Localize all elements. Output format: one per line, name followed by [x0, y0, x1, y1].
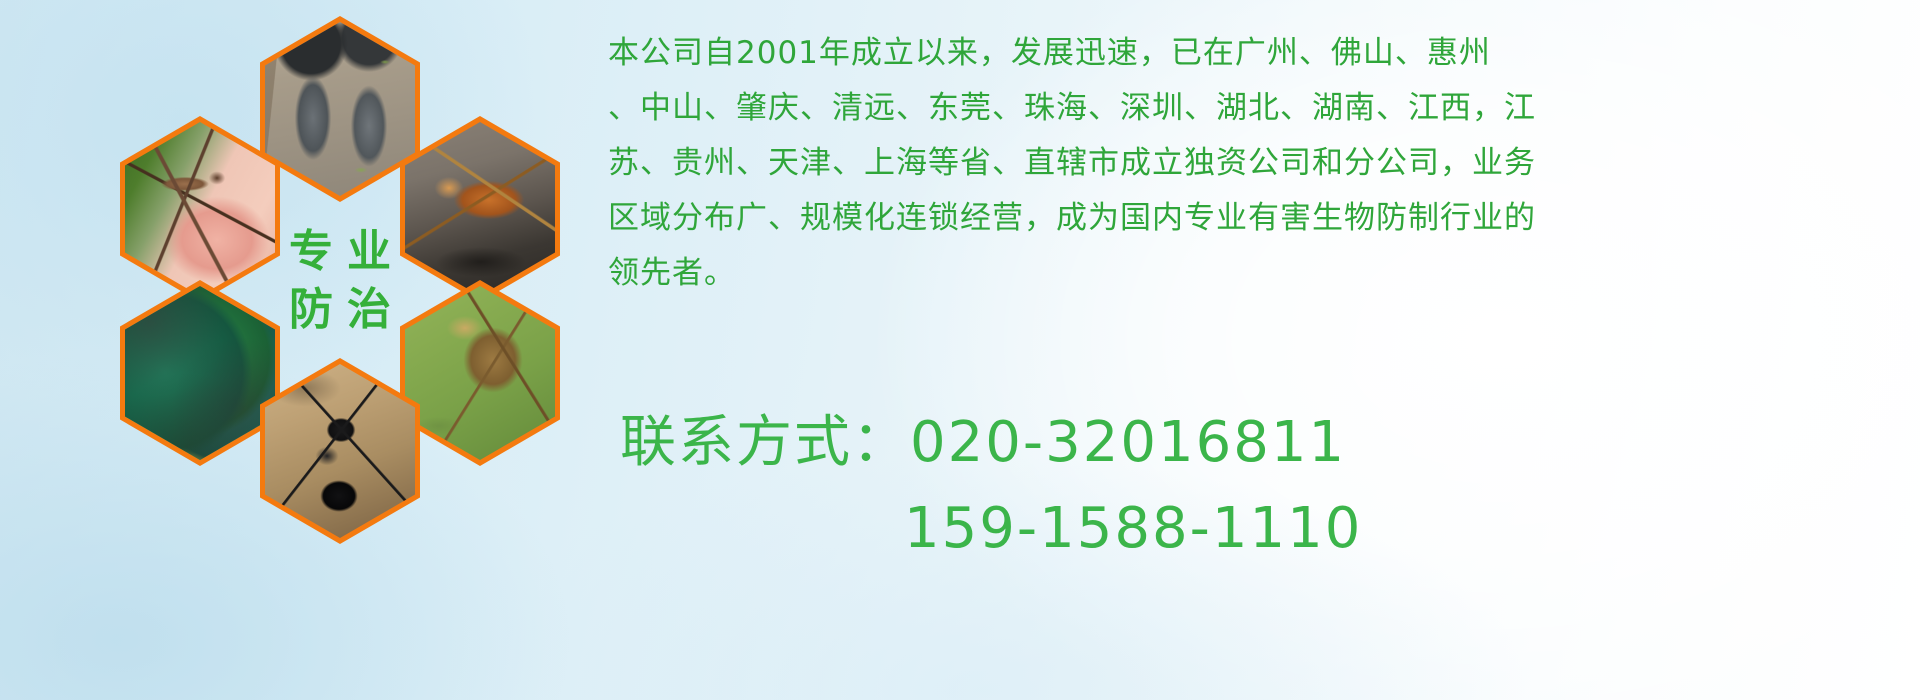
badge-line-2: 防治 [275, 288, 405, 332]
hex-photo-stink-bug-clip [405, 286, 555, 460]
hex-photo-mosquito-clip [125, 122, 275, 296]
intro-line-5: 领先者。 [608, 246, 1908, 301]
intro-line-1: 本公司自2001年成立以来，发展迅速，已在广州、佛山、惠州 [608, 26, 1908, 81]
stink-bug-image [405, 286, 555, 460]
hex-photo-mosquito [120, 116, 280, 302]
flies-image [125, 286, 275, 460]
hex-center-badge: 专业 防治 [260, 188, 420, 374]
hex-center-badge-clip: 专业 防治 [260, 188, 420, 374]
contact-landline[interactable]: 联系方式：020-32016811 [620, 400, 1920, 486]
cockroach-image [405, 122, 555, 296]
intro-line-4: 区域分布广、规模化连锁经营，成为国内专业有害生物防制行业的 [608, 191, 1908, 246]
hex-photo-ant [260, 358, 420, 544]
mosquito-image [125, 122, 275, 296]
contact-mobile[interactable]: 159-1588-1110 [620, 486, 1920, 572]
ant-image [265, 364, 415, 538]
intro-line-2: 、中山、肇庆、清远、东莞、珠海、深圳、湖北、湖南、江西，江 [608, 81, 1908, 136]
hex-photo-rats-clip [265, 22, 415, 196]
intro-line-3: 苏、贵州、天津、上海等省、直辖市成立独资公司和分公司，业务 [608, 136, 1908, 191]
pest-photo-honeycomb: 专业 防治 [90, 6, 590, 566]
intro-paragraph: 本公司自2001年成立以来，发展迅速，已在广州、佛山、惠州 、中山、肇庆、清远、… [608, 26, 1908, 301]
hex-photo-cockroach-clip [405, 122, 555, 296]
badge-text: 专业 防治 [260, 188, 420, 374]
promo-banner: 专业 防治 本公司自2001年成立以来，发展迅速，已在广州、佛山、惠州 、中山、… [0, 0, 1920, 700]
contact-block: 联系方式：020-32016811 159-1588-1110 [620, 400, 1920, 572]
hex-photo-stink-bug [400, 280, 560, 466]
badge-line-1: 专业 [275, 230, 405, 274]
hex-photo-rats [260, 16, 420, 202]
hex-photo-flies-clip [125, 286, 275, 460]
hex-photo-flies [120, 280, 280, 466]
rats-image [265, 22, 415, 196]
hex-photo-ant-clip [265, 364, 415, 538]
hex-photo-cockroach [400, 116, 560, 302]
